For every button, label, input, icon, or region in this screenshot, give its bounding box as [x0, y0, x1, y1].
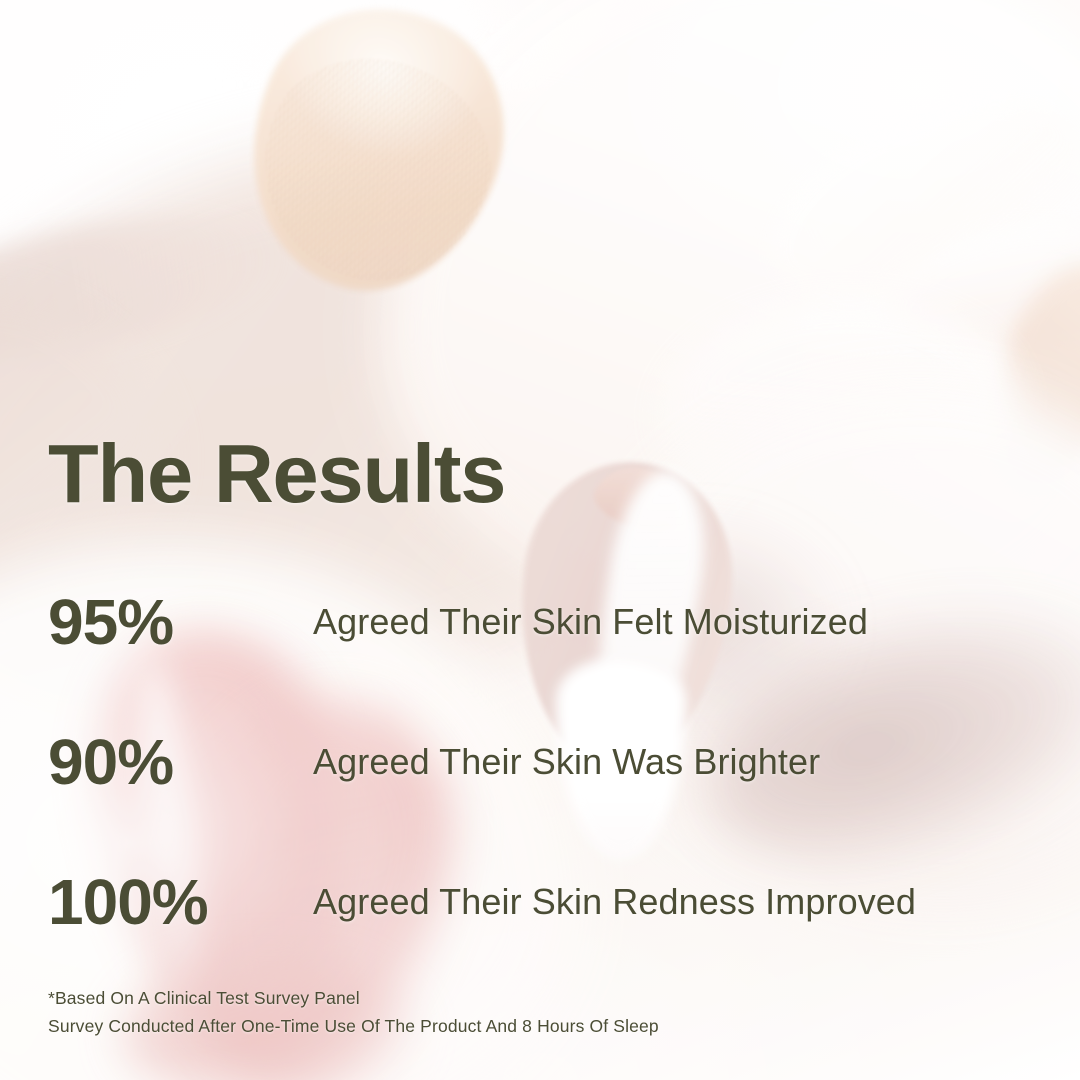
- stat-row: 95% Agreed Their Skin Felt Moisturized: [0, 584, 1080, 660]
- footnote-line-1: *Based On A Clinical Test Survey Panel: [48, 984, 659, 1012]
- stat-label: Agreed Their Skin Felt Moisturized: [313, 604, 868, 640]
- promo-card: The Results 95% Agreed Their Skin Felt M…: [0, 0, 1080, 1080]
- page-title: The Results: [48, 432, 505, 515]
- footnote-line-2: Survey Conducted After One-Time Use Of T…: [48, 1012, 659, 1040]
- stat-percent: 95%: [48, 590, 173, 654]
- stat-row: 100% Agreed Their Skin Redness Improved: [0, 864, 1080, 940]
- stat-percent: 90%: [48, 730, 173, 794]
- stat-label: Agreed Their Skin Was Brighter: [313, 744, 820, 780]
- content-overlay: The Results 95% Agreed Their Skin Felt M…: [0, 0, 1080, 1080]
- footnote: *Based On A Clinical Test Survey Panel S…: [48, 984, 659, 1041]
- stat-row: 90% Agreed Their Skin Was Brighter: [0, 724, 1080, 800]
- stat-label: Agreed Their Skin Redness Improved: [313, 884, 916, 920]
- stat-percent: 100%: [48, 870, 208, 934]
